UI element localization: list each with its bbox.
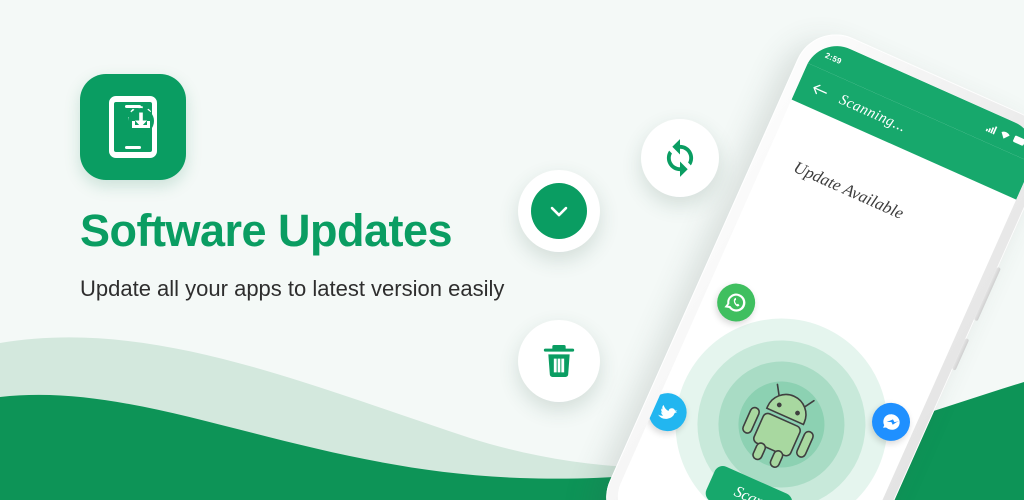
download-badge[interactable] (518, 170, 600, 252)
trash-badge[interactable] (518, 320, 600, 402)
back-arrow-icon[interactable] (810, 81, 830, 100)
software-updates-app-logo (80, 74, 186, 180)
wifi-icon (998, 128, 1012, 141)
hero-left-column: Software Updates Update all your apps to… (0, 0, 560, 500)
whatsapp-icon[interactable] (711, 277, 761, 327)
page-title: Software Updates (80, 205, 452, 257)
phone-screen: 2:59 (607, 36, 1024, 500)
chevron-down-icon (545, 197, 573, 225)
refresh-badge[interactable] (641, 119, 719, 197)
status-bar-clock: 2:59 (824, 50, 843, 65)
trash-icon (539, 341, 579, 381)
phone-mockup: 2:59 (580, 30, 1024, 500)
signal-icon (986, 122, 999, 134)
download-badge-disc (531, 183, 587, 239)
refresh-icon (659, 137, 701, 179)
page-subtitle: Update all your apps to latest version e… (80, 276, 504, 302)
battery-icon (1012, 135, 1024, 148)
update-available-heading: Update Available (790, 157, 906, 223)
